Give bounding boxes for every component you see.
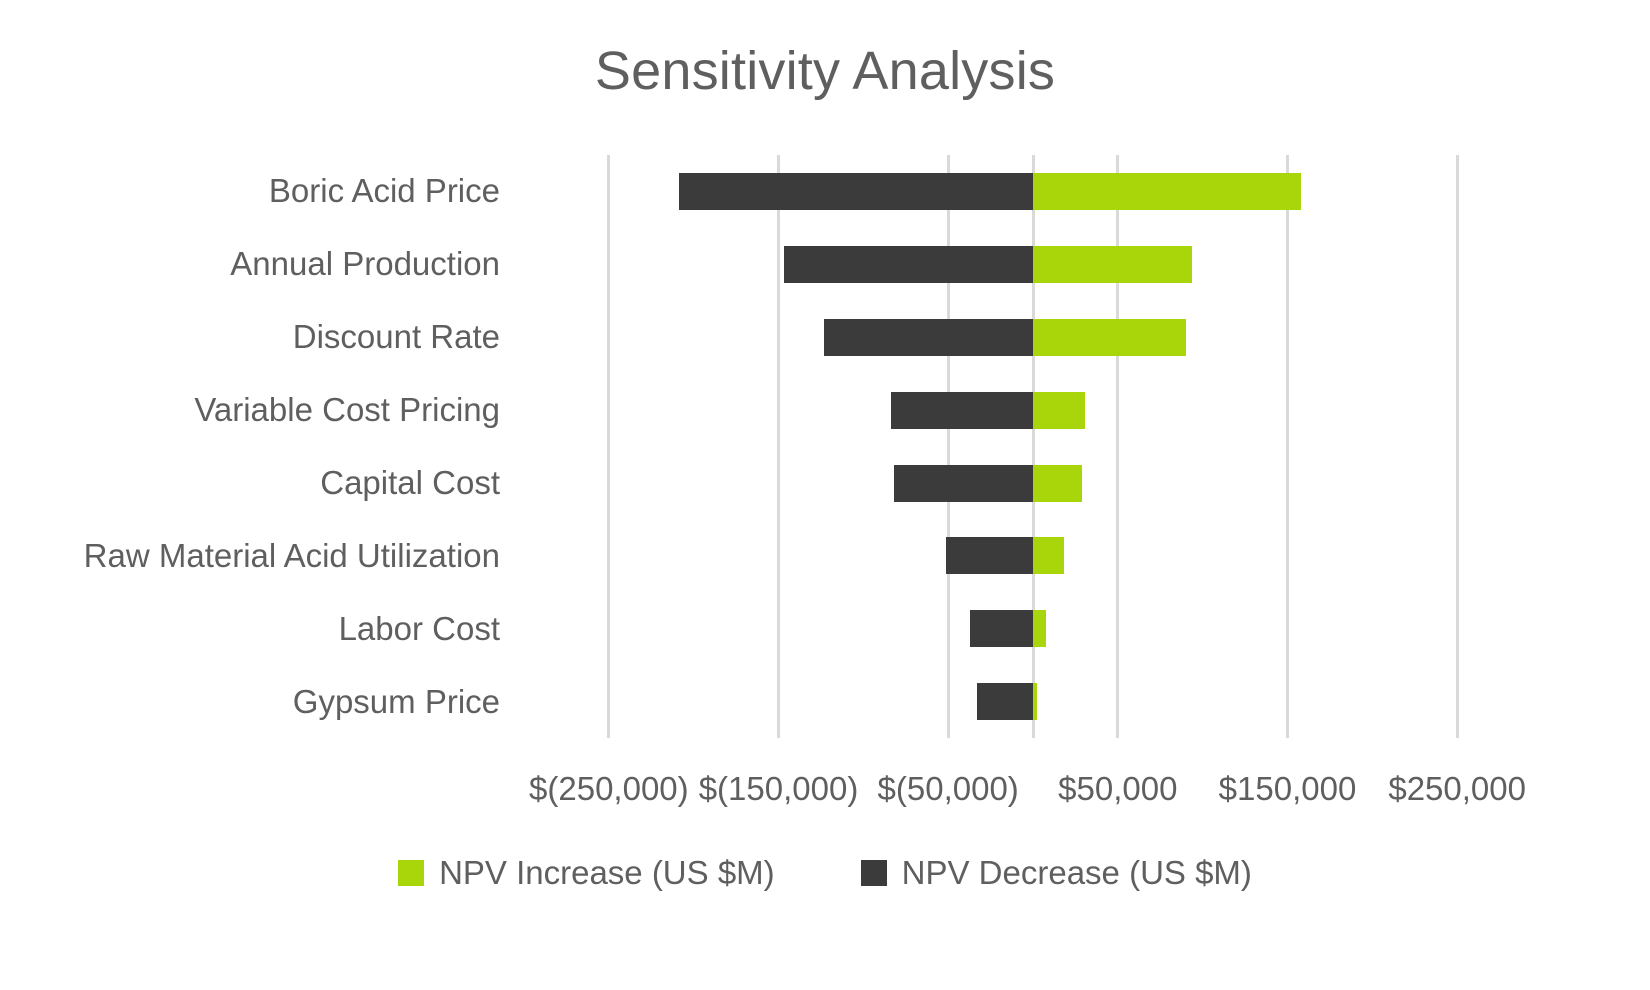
y-axis-category-labels: Boric Acid PriceAnnual ProductionDiscoun…: [0, 155, 500, 738]
bar-decrease[interactable]: [891, 392, 1033, 429]
bar-decrease[interactable]: [894, 465, 1033, 502]
bar-increase[interactable]: [1033, 465, 1082, 502]
y-axis-label: Capital Cost: [0, 466, 500, 499]
y-axis-label: Gypsum Price: [0, 685, 500, 718]
x-axis-label: $250,000: [1388, 772, 1526, 805]
x-axis-label: $50,000: [1058, 772, 1177, 805]
bar-increase[interactable]: [1033, 610, 1046, 647]
legend-label: NPV Increase (US $M): [439, 856, 775, 889]
y-axis-label: Boric Acid Price: [0, 174, 500, 207]
bar-row: [524, 301, 1542, 374]
sensitivity-analysis-chart: Sensitivity Analysis Boric Acid PriceAnn…: [0, 0, 1650, 990]
bar-row: [524, 228, 1542, 301]
bar-row: [524, 519, 1542, 592]
bar-increase[interactable]: [1033, 683, 1037, 720]
bar-row: [524, 155, 1542, 228]
x-axis-label: $(50,000): [878, 772, 1019, 805]
bar-increase[interactable]: [1033, 319, 1186, 356]
bar-decrease[interactable]: [679, 173, 1033, 210]
bar-decrease[interactable]: [784, 246, 1033, 283]
bar-increase[interactable]: [1033, 173, 1301, 210]
x-axis-label: $(250,000): [529, 772, 689, 805]
bar-increase[interactable]: [1033, 537, 1064, 574]
y-axis-label: Raw Material Acid Utilization: [0, 539, 500, 572]
chart-title: Sensitivity Analysis: [0, 42, 1650, 101]
x-axis-label: $(150,000): [699, 772, 859, 805]
bar-decrease[interactable]: [946, 537, 1033, 574]
bar-increase[interactable]: [1033, 246, 1192, 283]
legend-swatch-decrease: [861, 860, 887, 886]
chart-legend: NPV Increase (US $M)NPV Decrease (US $M): [0, 856, 1650, 889]
bar-row: [524, 665, 1542, 738]
bar-decrease[interactable]: [824, 319, 1033, 356]
y-axis-label: Annual Production: [0, 247, 500, 280]
bar-row: [524, 374, 1542, 447]
plot-area: [524, 155, 1542, 738]
bar-row: [524, 592, 1542, 665]
x-axis-label: $150,000: [1219, 772, 1357, 805]
legend-swatch-increase: [398, 860, 424, 886]
bar-increase[interactable]: [1033, 392, 1085, 429]
bar-decrease[interactable]: [977, 683, 1033, 720]
bar-decrease[interactable]: [970, 610, 1033, 647]
y-axis-label: Discount Rate: [0, 320, 500, 353]
bar-row: [524, 447, 1542, 520]
legend-label: NPV Decrease (US $M): [902, 856, 1252, 889]
legend-item[interactable]: NPV Increase (US $M): [398, 856, 775, 889]
legend-item[interactable]: NPV Decrease (US $M): [861, 856, 1252, 889]
x-axis-tick-labels: $(250,000)$(150,000)$(50,000)$50,000$150…: [0, 772, 1650, 828]
y-axis-label: Labor Cost: [0, 612, 500, 645]
y-axis-label: Variable Cost Pricing: [0, 393, 500, 426]
